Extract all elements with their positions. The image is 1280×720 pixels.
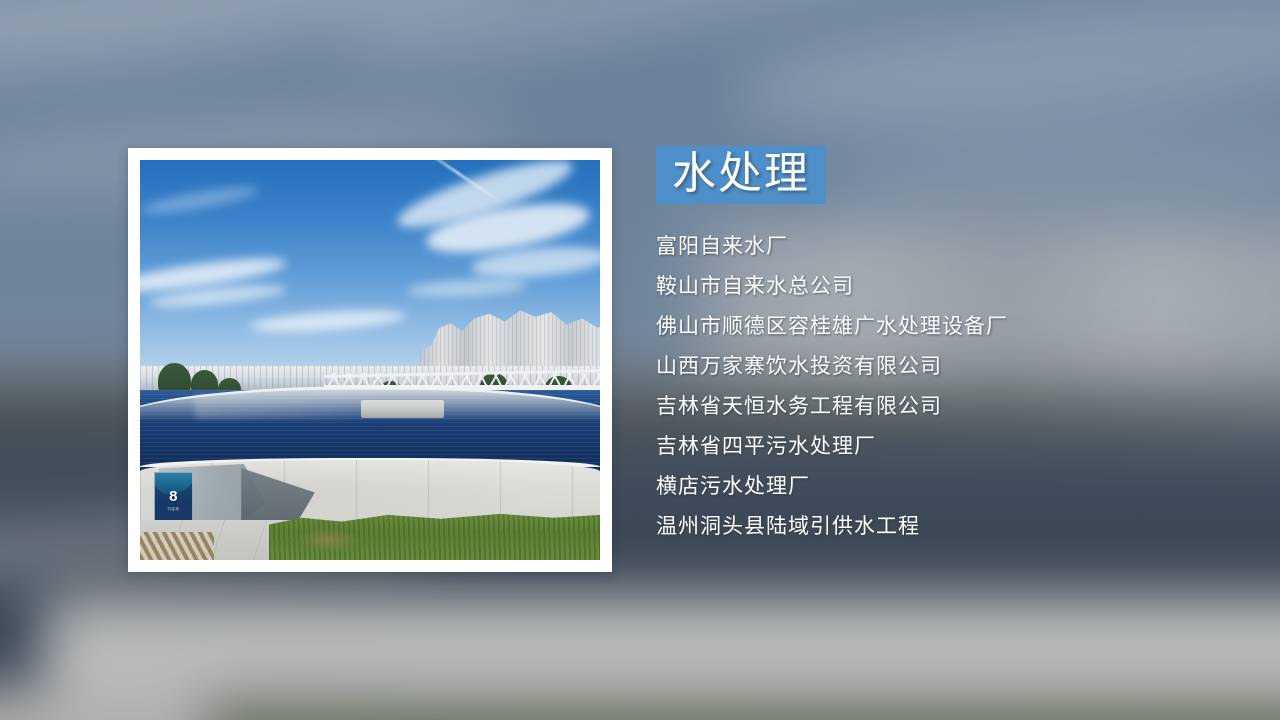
list-item: 富阳自来水厂 [656,236,1216,257]
reference-list: 富阳自来水厂 鞍山市自来水总公司 佛山市顺德区容桂雄广水处理设备厂 山西万家寨饮… [656,236,1216,537]
content-panel: 水处理 富阳自来水厂 鞍山市自来水总公司 佛山市顺德区容桂雄广水处理设备厂 山西… [656,146,1216,537]
photo-image: 8 沉淀池 [140,160,600,560]
list-item: 横店污水处理厂 [656,476,1216,497]
list-item: 吉林省四平污水处理厂 [656,436,1216,457]
sign-caption: 沉淀池 [167,507,179,512]
list-item: 温州洞头县陆域引供水工程 [656,516,1216,537]
sign-number: 8 [169,489,177,504]
list-item: 佛山市顺德区容桂雄广水处理设备厂 [656,316,1216,337]
list-item: 吉林省天恒水务工程有限公司 [656,396,1216,417]
page-title: 水处理 [656,146,826,204]
photo-grating [140,532,214,560]
list-item: 鞍山市自来水总公司 [656,276,1216,297]
page-title-text: 水处理 [672,148,810,199]
photo-dry-grass-patch [296,528,360,552]
list-item: 山西万家寨饮水投资有限公司 [656,356,1216,377]
slide-root: 8 沉淀池 水处理 富阳自来水厂 鞍山市自来水总公司 佛山市顺德区容桂雄广水处理… [0,0,1280,720]
photo-card: 8 沉淀池 [128,148,612,572]
